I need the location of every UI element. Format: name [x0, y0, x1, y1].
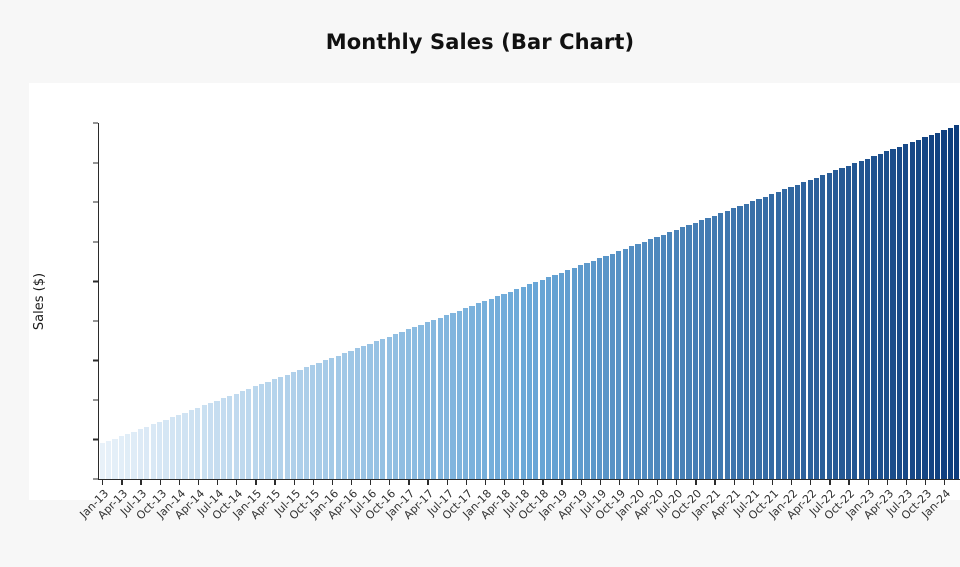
x-axis-tick-mark [676, 480, 677, 485]
x-axis-tick-mark [351, 480, 352, 485]
y-axis-tick-mark [93, 320, 98, 321]
bar [438, 318, 443, 479]
bar [374, 341, 379, 479]
bar [112, 439, 117, 479]
bar [941, 130, 946, 479]
bar [642, 242, 647, 479]
bar [839, 168, 844, 479]
bar [833, 170, 838, 479]
bar [221, 398, 226, 479]
x-axis-tick-mark [332, 480, 333, 485]
bar [355, 348, 360, 479]
bar [208, 403, 213, 479]
x-axis-tick-mark [427, 480, 428, 485]
bar [935, 133, 940, 480]
bar [533, 282, 538, 479]
bar [310, 365, 315, 479]
bar [782, 189, 787, 479]
bar [138, 429, 143, 479]
bar [367, 344, 372, 479]
y-axis-tick-mark [93, 479, 98, 480]
bar [903, 144, 908, 479]
bar [227, 396, 232, 479]
x-axis-tick-mark [657, 480, 658, 485]
x-axis-tick-mark [294, 480, 295, 485]
y-axis-tick-mark [93, 360, 98, 361]
bar [916, 140, 921, 479]
bar [725, 211, 730, 479]
bar [329, 358, 334, 479]
bar [246, 389, 251, 479]
bar [750, 201, 755, 479]
x-axis-tick-mark [485, 480, 486, 485]
bar [661, 235, 666, 479]
bar [361, 346, 366, 479]
x-axis-tick-mark [638, 480, 639, 485]
bar [387, 337, 392, 479]
bar [552, 275, 557, 479]
bar [744, 204, 749, 479]
bar [871, 156, 876, 479]
bar [565, 270, 570, 479]
bar [623, 249, 628, 479]
plot-area [99, 123, 960, 479]
bar [380, 339, 385, 479]
bar [291, 372, 296, 479]
bar [259, 384, 264, 479]
bar [285, 375, 290, 479]
chart-title: Monthly Sales (Bar Chart) [0, 30, 960, 54]
bar [820, 175, 825, 479]
bar [482, 301, 487, 479]
bar [144, 427, 149, 479]
bar [929, 135, 934, 479]
bar [501, 294, 506, 479]
x-axis-tick-mark [236, 480, 237, 485]
y-axis-title: Sales ($) [30, 255, 50, 347]
bar [214, 401, 219, 479]
x-axis-tick-mark [561, 480, 562, 485]
x-axis-tick-mark [140, 480, 141, 485]
bar [948, 128, 953, 479]
x-axis-tick-mark [447, 480, 448, 485]
x-axis-tick-mark [523, 480, 524, 485]
bar [469, 306, 474, 479]
bar [265, 382, 270, 479]
y-axis-tick-mark [93, 281, 98, 282]
bar [756, 199, 761, 479]
x-axis-spine [98, 479, 960, 480]
bar [100, 443, 105, 479]
bar [323, 360, 328, 479]
x-axis-tick-mark [217, 480, 218, 485]
bar [412, 327, 417, 479]
bar [795, 185, 800, 479]
bar [253, 386, 258, 479]
x-axis-tick-mark [695, 480, 696, 485]
bar [514, 289, 519, 479]
x-axis-tick-mark [542, 480, 543, 485]
bar [954, 125, 959, 479]
x-axis-tick-mark [581, 480, 582, 485]
bar [769, 194, 774, 479]
bar [897, 147, 902, 479]
bar [399, 332, 404, 479]
bar [693, 223, 698, 479]
bar [418, 325, 423, 479]
bar [578, 265, 583, 479]
bar [546, 277, 551, 479]
bar [151, 424, 156, 479]
bar [163, 420, 168, 479]
bar [521, 287, 526, 479]
bar [202, 405, 207, 479]
bar [278, 377, 283, 479]
y-axis-tick-mark [93, 123, 98, 124]
bar [450, 313, 455, 479]
bar [240, 391, 245, 479]
x-axis-tick-mark [906, 480, 907, 485]
bar [572, 268, 577, 479]
x-axis-tick-mark [714, 480, 715, 485]
bar [508, 292, 513, 479]
bar [342, 353, 347, 479]
bar [654, 237, 659, 479]
x-axis-tick-mark [925, 480, 926, 485]
bar [540, 280, 545, 479]
bar [801, 182, 806, 479]
bar [170, 417, 175, 479]
bar [457, 311, 462, 480]
x-axis-tick-mark [753, 480, 754, 485]
bar [495, 296, 500, 479]
bar [827, 173, 832, 479]
bar [718, 213, 723, 479]
bar [316, 363, 321, 479]
bar [890, 149, 895, 479]
bar [431, 320, 436, 479]
bar [119, 436, 124, 479]
bar [737, 206, 742, 479]
bar [629, 246, 634, 479]
bar [808, 180, 813, 479]
bar [712, 216, 717, 479]
x-axis-tick-mark [887, 480, 888, 485]
bar [304, 367, 309, 479]
bar [297, 370, 302, 479]
x-axis-tick-mark [370, 480, 371, 485]
bar [272, 379, 277, 479]
x-axis-tick-mark [102, 480, 103, 485]
x-axis-tick-mark [600, 480, 601, 485]
bar [635, 244, 640, 479]
bar [125, 434, 130, 479]
bar [584, 263, 589, 479]
x-axis-tick-mark [619, 480, 620, 485]
bar [425, 322, 430, 479]
x-axis-tick-mark [810, 480, 811, 485]
bar [106, 441, 111, 479]
x-axis-tick-mark [734, 480, 735, 485]
bar [865, 159, 870, 479]
bar [603, 256, 608, 479]
bar [686, 225, 691, 479]
bar [922, 137, 927, 479]
y-axis-tick-mark [93, 439, 98, 440]
x-axis-tick-mark [274, 480, 275, 485]
y-axis-tick-mark [93, 241, 98, 242]
bar [699, 220, 704, 479]
x-axis-tick-mark [791, 480, 792, 485]
y-axis-title-text: Sales ($) [33, 272, 48, 329]
bar [852, 163, 857, 479]
bar [157, 422, 162, 479]
x-axis-tick-mark [772, 480, 773, 485]
bar [463, 308, 468, 479]
bar [705, 218, 710, 479]
bar [591, 261, 596, 479]
x-axis-tick-mark [198, 480, 199, 485]
bar [195, 408, 200, 479]
bar [234, 394, 239, 479]
x-axis-tick-mark [313, 480, 314, 485]
bar [406, 329, 411, 479]
bar [680, 227, 685, 479]
bar [648, 239, 653, 479]
bar [731, 208, 736, 479]
bar [393, 334, 398, 479]
bar [131, 432, 136, 479]
y-axis-tick-mark [93, 202, 98, 203]
bar [189, 410, 194, 479]
bar [878, 154, 883, 479]
y-axis-tick-mark [93, 399, 98, 400]
x-axis-tick-mark [848, 480, 849, 485]
bar [182, 413, 187, 479]
bar [610, 254, 615, 479]
x-axis-tick-mark [160, 480, 161, 485]
bar [489, 299, 494, 479]
bar [597, 258, 602, 479]
bar [336, 356, 341, 479]
bar [527, 284, 532, 479]
bar [776, 192, 781, 479]
bar [444, 315, 449, 479]
bar [616, 251, 621, 479]
bar [859, 161, 864, 479]
x-axis-tick-mark [466, 480, 467, 485]
bar [348, 351, 353, 479]
bar [176, 415, 181, 479]
x-axis-tick-mark [389, 480, 390, 485]
bar [667, 232, 672, 479]
x-axis-tick-mark [121, 480, 122, 485]
bar [674, 230, 679, 479]
bar [910, 142, 915, 479]
y-axis-tick-mark [93, 162, 98, 163]
bar [763, 197, 768, 479]
bar [814, 178, 819, 479]
bar [788, 187, 793, 479]
x-axis-tick-mark [179, 480, 180, 485]
x-axis-tick-mark [868, 480, 869, 485]
x-axis-tick-mark [829, 480, 830, 485]
bar [559, 273, 564, 479]
x-axis-tick-mark [944, 480, 945, 485]
x-axis-tick-mark [408, 480, 409, 485]
x-axis-tick-mark [255, 480, 256, 485]
bar [884, 151, 889, 479]
bar [476, 303, 481, 479]
bar [846, 166, 851, 479]
x-axis-tick-mark [504, 480, 505, 485]
